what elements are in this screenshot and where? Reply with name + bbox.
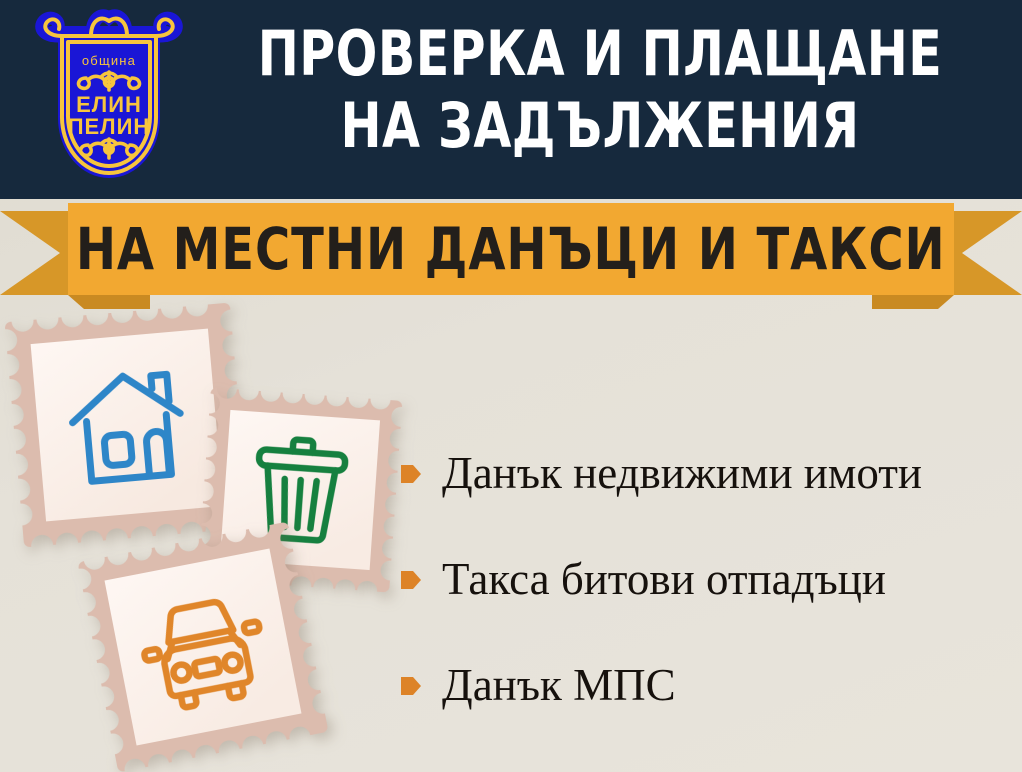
list-item[interactable]: Данък недвижими имоти [400,420,1010,526]
page-title: ПРОВЕРКА И ПЛАЩАНЕ НА ЗАДЪЛЖЕНИЯ [190,18,1010,162]
stamp-card-vehicle [78,522,329,772]
ribbon-band: НА МЕСТНИ ДАНЪЦИ И ТАКСИ [68,203,954,295]
subtitle-ribbon: НА МЕСТНИ ДАНЪЦИ И ТАКСИ [0,193,1022,305]
list-item-label: Такса битови отпадъци [442,554,886,604]
page-title-line-1: ПРОВЕРКА И ПЛАЩАНЕ [239,18,961,90]
ribbon-fold-left [68,295,150,309]
list-item[interactable]: Такса битови отпадъци [400,526,1010,632]
list-item-label: Данък недвижими имоти [442,448,922,498]
obligations-list: Данък недвижими имоти Такса битови отпад… [400,420,1010,738]
list-item-label: Данък МПС [442,660,676,710]
arrow-bullet-icon [400,461,422,487]
crest-name-line-2: ПЕЛИН [68,114,151,139]
crest-top-label: община [82,53,136,68]
list-item[interactable]: Данък МПС [400,632,1010,738]
ribbon-fold-right [872,295,954,309]
page-title-line-2: НА ЗАДЪЛЖЕНИЯ [239,90,961,162]
poster-canvas: Данък недвижими имоти Такса битови отпад… [0,0,1022,772]
ribbon-label: НА МЕСТНИ ДАНЪЦИ И ТАКСИ [76,220,946,278]
poster-header: община ЕЛИН ПЕЛИН ПРОВЕРКА И ПЛАЩАНЕ НА … [0,0,1022,199]
municipality-coat-of-arms: община ЕЛИН ПЕЛИН [34,6,184,192]
arrow-bullet-icon [400,673,422,699]
arrow-bullet-icon [400,567,422,593]
